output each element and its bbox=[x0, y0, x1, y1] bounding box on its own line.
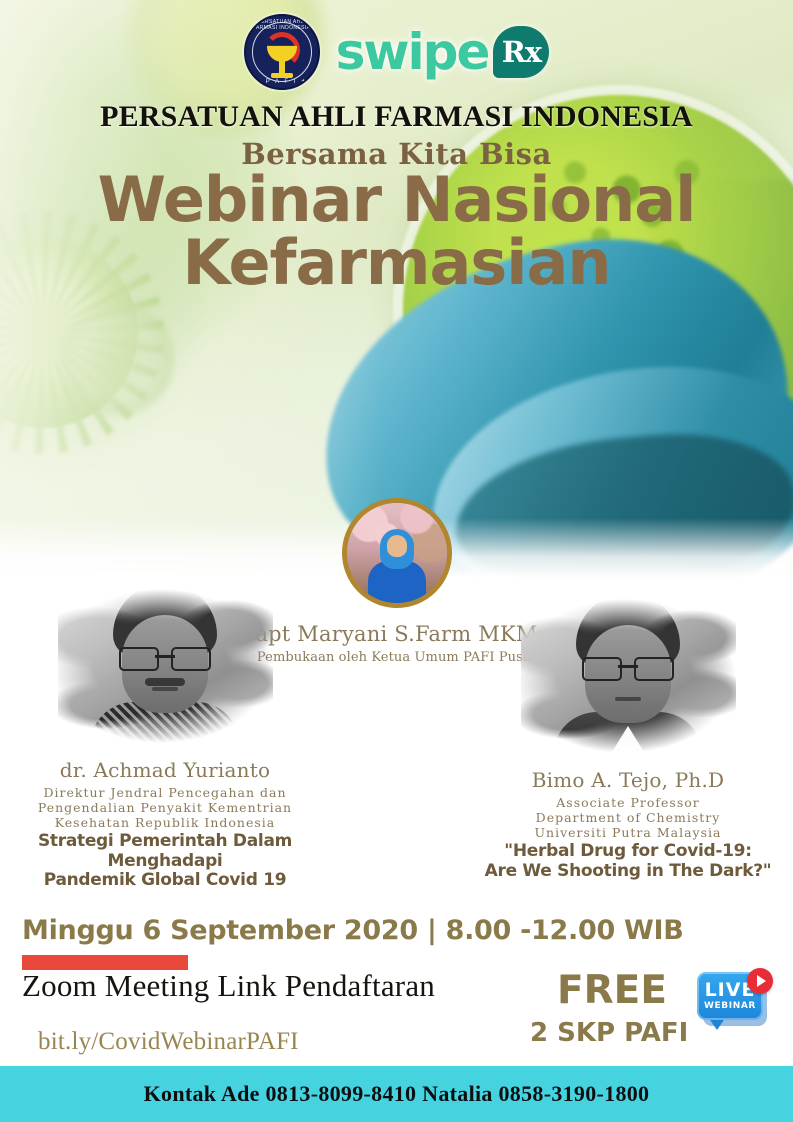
affiliation-line-2: Pengendalian Penyakit Kementrian bbox=[0, 801, 330, 816]
logo-row: PERSATUAN AHLI FARMASI INDONESIA ★ P A F… bbox=[0, 14, 793, 90]
swiperx-logo: swipe Rx bbox=[336, 26, 550, 78]
speaker-left-name: dr. Achmad Yurianto bbox=[0, 758, 330, 782]
page-title: Webinar Nasional Kefarmasian bbox=[0, 168, 793, 294]
photo-mouth bbox=[152, 687, 178, 691]
topic-line-1: "Herbal Drug for Covid-19: bbox=[463, 842, 793, 861]
rx-label: Rx bbox=[502, 38, 541, 67]
speaker-left-affiliation: Direktur Jendral Pencegahan dan Pengenda… bbox=[0, 786, 330, 830]
credits-label: 2 SKP PAFI bbox=[530, 1018, 688, 1048]
topic-line-2: Pandemik Global Covid 19 bbox=[0, 871, 330, 890]
speaker-right-topic: "Herbal Drug for Covid-19: Are We Shooti… bbox=[463, 842, 793, 881]
swipe-wordmark: swipe bbox=[336, 27, 489, 77]
contact-footer: Kontak Ade 0813-8099-8410 Natalia 0858-3… bbox=[0, 1066, 793, 1122]
webinar-poster: PERSATUAN AHLI FARMASI INDONESIA ★ P A F… bbox=[0, 0, 793, 1122]
avatar-face bbox=[387, 535, 407, 557]
live-webinar-badge: LIVE WEBINAR bbox=[697, 972, 771, 1034]
speaker-left: dr. Achmad Yurianto Direktur Jendral Pen… bbox=[0, 575, 330, 890]
speaker-right-photo bbox=[521, 585, 736, 760]
contact-text: Kontak Ade 0813-8099-8410 Natalia 0858-3… bbox=[144, 1081, 650, 1107]
price-label: FREE bbox=[557, 968, 667, 1013]
play-icon bbox=[747, 968, 773, 994]
center-speaker-avatar bbox=[342, 498, 452, 608]
event-datetime: Minggu 6 September 2020 | 8.00 -12.00 WI… bbox=[22, 915, 684, 946]
pafi-logo-bottom-text: ★ P A F I ★ bbox=[246, 78, 318, 85]
pafi-logo: PERSATUAN AHLI FARMASI INDONESIA ★ P A F… bbox=[244, 14, 320, 90]
rx-bubble-icon: Rx bbox=[493, 26, 549, 78]
affiliation-line-1: Associate Professor bbox=[463, 796, 793, 811]
affiliation-line-3: Universiti Putra Malaysia bbox=[463, 826, 793, 841]
photo-moustache bbox=[145, 678, 185, 686]
bowl-stem-icon bbox=[279, 58, 285, 74]
topic-line-1: Strategi Pemerintah Dalam Menghadapi bbox=[0, 832, 330, 871]
main-title-line2: Kefarmasian bbox=[0, 231, 793, 294]
badge-webinar-label: WEBINAR bbox=[704, 1002, 756, 1011]
affiliation-line-2: Department of Chemistry bbox=[463, 811, 793, 826]
speaker-right-name: Bimo A. Tejo, Ph.D bbox=[463, 768, 793, 792]
speaker-right-affiliation: Associate Professor Department of Chemis… bbox=[463, 796, 793, 840]
affiliation-line-1: Direktur Jendral Pencegahan dan bbox=[0, 786, 330, 801]
registration-link[interactable]: bit.ly/CovidWebinarPAFI bbox=[38, 1028, 299, 1056]
photo-mouth bbox=[615, 697, 641, 701]
speaker-left-topic: Strategi Pemerintah Dalam Menghadapi Pan… bbox=[0, 832, 330, 890]
pafi-logo-top-text: PERSATUAN AHLI FARMASI INDONESIA bbox=[246, 19, 318, 31]
main-title-line1: Webinar Nasional bbox=[98, 163, 696, 236]
speaker-left-photo bbox=[58, 575, 273, 750]
glasses-icon bbox=[119, 647, 211, 667]
platform-registration-label: Zoom Meeting Link Pendaftaran bbox=[22, 968, 435, 1004]
speaker-right: Bimo A. Tejo, Ph.D Associate Professor D… bbox=[463, 585, 793, 881]
glasses-icon bbox=[582, 657, 674, 677]
topic-line-2: Are We Shooting in The Dark?" bbox=[463, 862, 793, 881]
affiliation-line-3: Kesehatan Republik Indonesia bbox=[0, 816, 330, 831]
organization-title: PERSATUAN AHLI FARMASI INDONESIA bbox=[0, 100, 793, 134]
